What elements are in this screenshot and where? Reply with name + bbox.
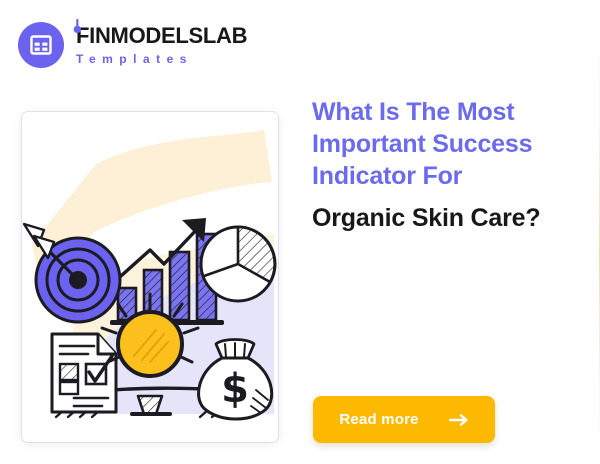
brand-logo[interactable]: FINMODELSLAB Templates (18, 22, 247, 68)
pin-accent-icon (73, 18, 82, 36)
svg-text:$: $ (221, 366, 249, 412)
brand-subtitle: Templates (76, 53, 247, 65)
arrow-right-icon (449, 413, 469, 427)
headline-primary: What Is The Most Important Success Indic… (312, 96, 582, 192)
headline-secondary: Organic Skin Care? (312, 202, 582, 234)
brand-name: FINMODELSLAB (76, 25, 247, 47)
promo-card: FINMODELSLAB Templates (0, 0, 600, 464)
illustration-card: $ (22, 112, 278, 442)
checklist-document-icon (52, 334, 116, 412)
read-more-label: Read more (339, 411, 418, 428)
read-more-button[interactable]: Read more (313, 396, 495, 443)
headline-block: What Is The Most Important Success Indic… (312, 96, 582, 234)
grid-table-icon (18, 22, 64, 68)
brand-wordmark: FINMODELSLAB Templates (76, 25, 247, 65)
pie-chart-icon (201, 227, 275, 301)
